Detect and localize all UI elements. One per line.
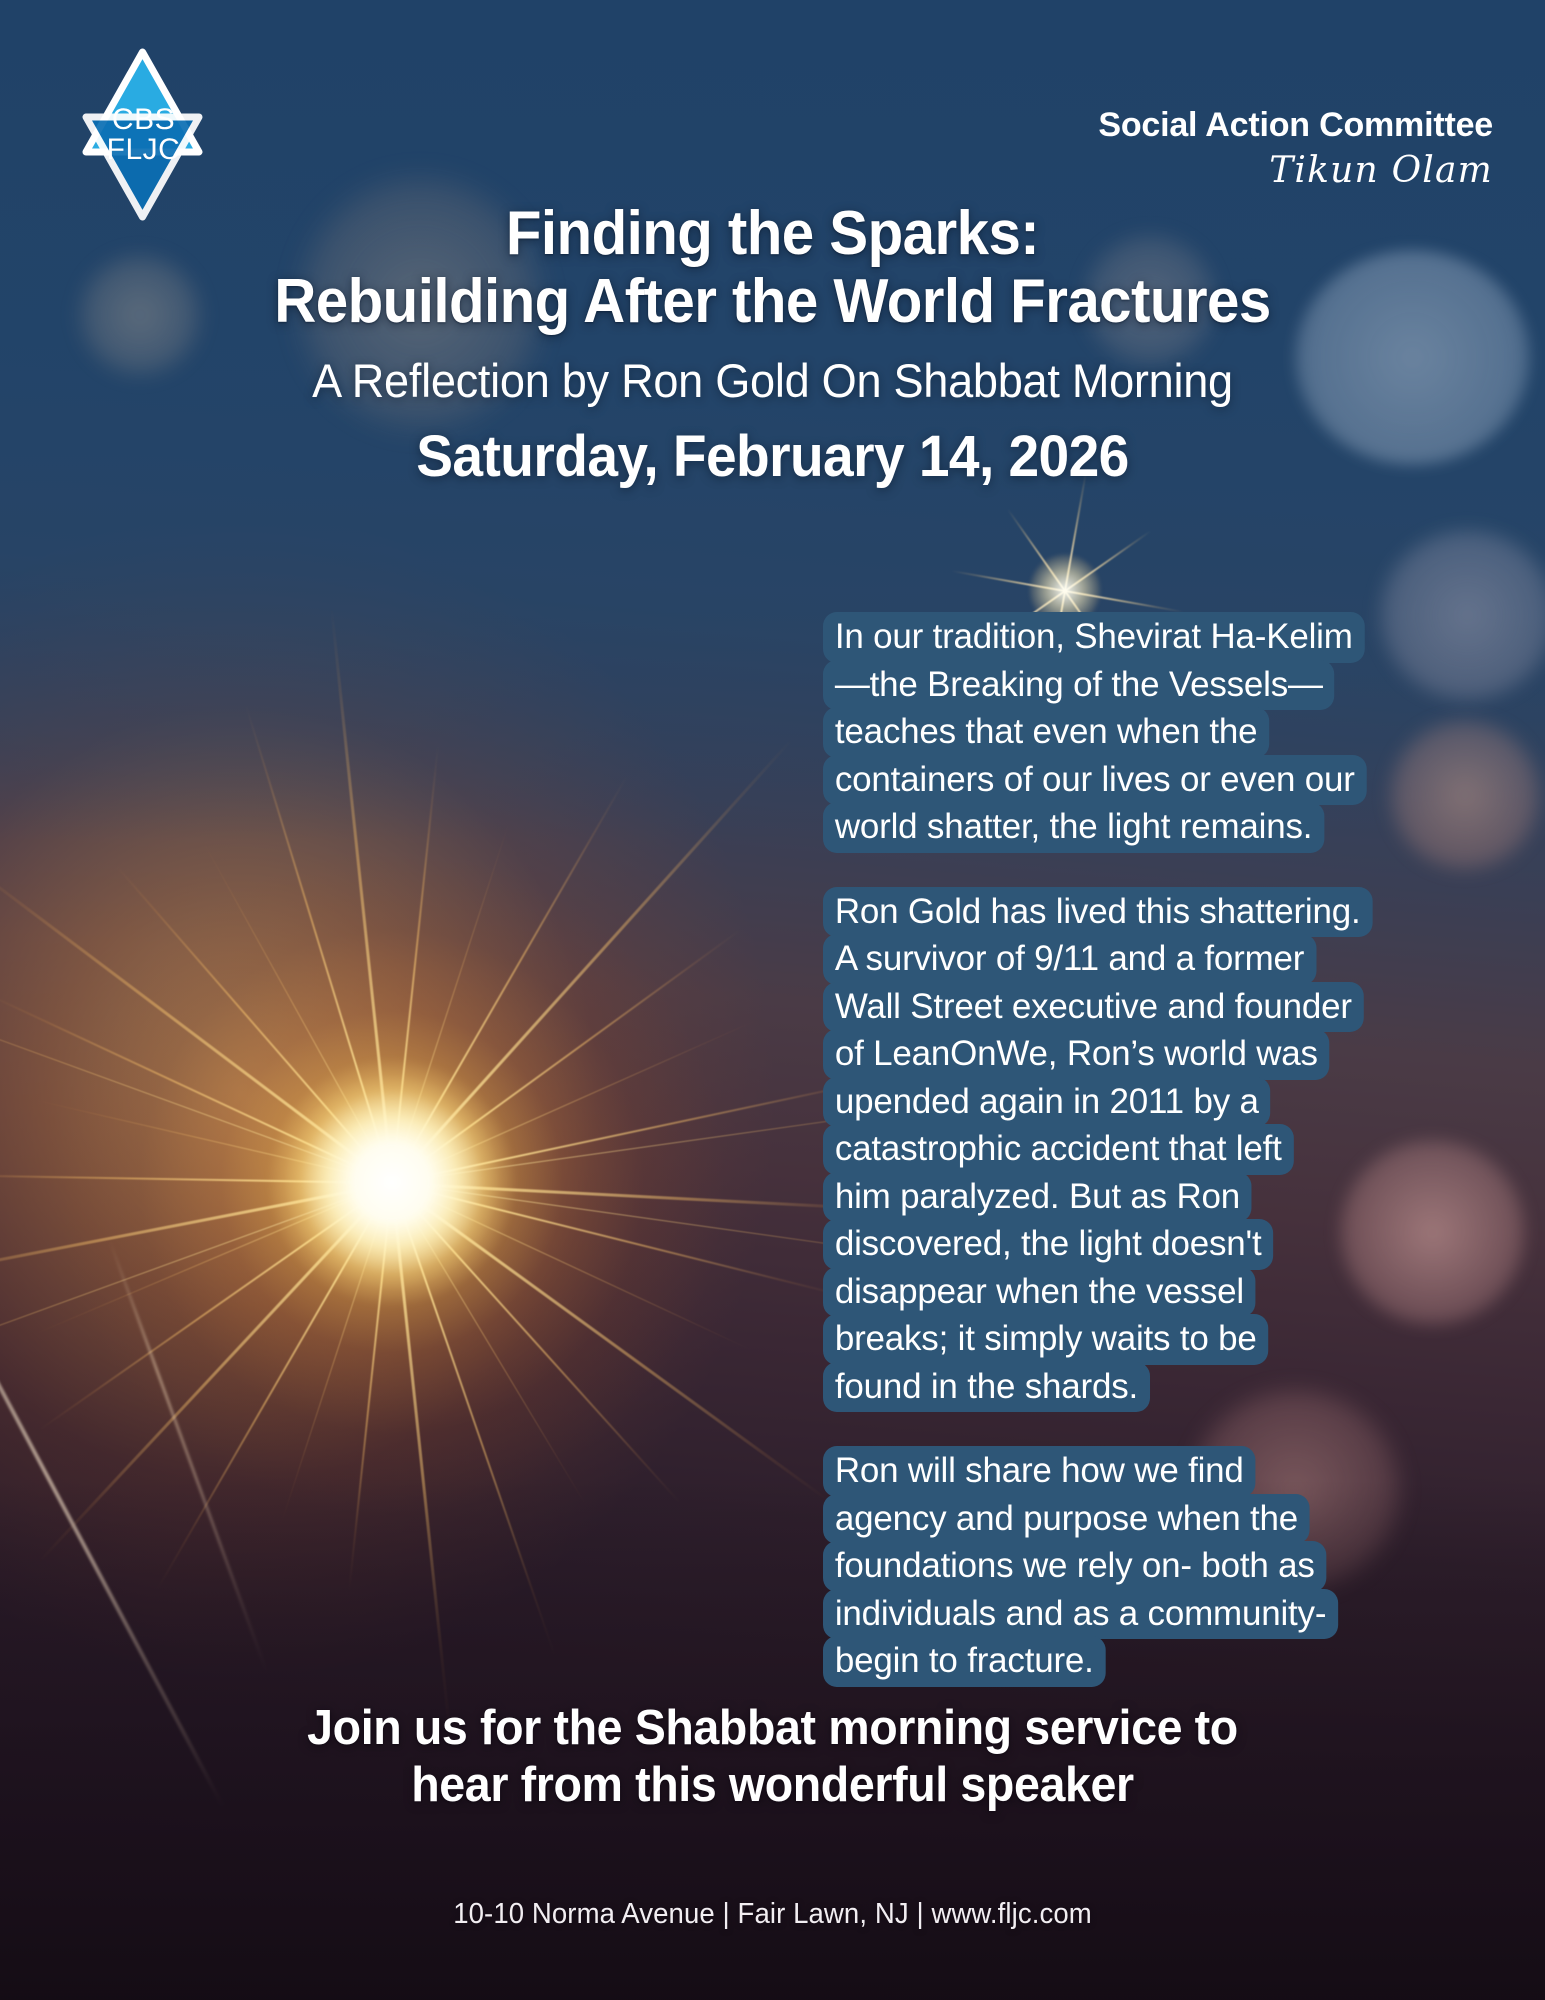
text-line: disappear when the vessel [823, 1267, 1256, 1318]
text-line: upended again in 2011 by a [823, 1077, 1271, 1128]
event-date: Saturday, February 14, 2026 [92, 425, 1453, 490]
text-line: Ron Gold has lived this shattering. [823, 887, 1372, 938]
paragraph: Ron will share how we find agency and pu… [823, 1446, 1483, 1687]
tikun-olam-tagline: Tikun Olam [1098, 148, 1493, 193]
paragraph: Ron Gold has lived this shattering. A su… [823, 887, 1483, 1413]
text-line: A survivor of 9/11 and a former [823, 934, 1316, 985]
text-line: Ron will share how we find [823, 1446, 1256, 1497]
text-line: containers of our lives or even our [823, 755, 1366, 806]
logo-line-2: FLJC [107, 135, 181, 164]
event-flyer: CBS FLJC Social Action Committee Tikun O… [0, 0, 1545, 2000]
text-line: foundations we rely on- both as [823, 1541, 1327, 1592]
text-line: breaks; it simply waits to be [823, 1314, 1268, 1365]
paragraph: In our tradition, Shevirat Ha-Kelim —the… [823, 612, 1483, 853]
event-subtitle: A Reflection by Ron Gold On Shabbat Morn… [85, 353, 1461, 408]
text-line: individuals and as a community- [823, 1589, 1338, 1640]
text-line: him paralyzed. But as Ron [823, 1172, 1252, 1223]
text-line: Wall Street executive and founder [823, 982, 1364, 1033]
title-line-1: Finding the Sparks: [99, 200, 1446, 268]
sparkler-core [267, 1057, 517, 1307]
text-line: of LeanOnWe, Ron’s world was [823, 1029, 1330, 1080]
text-line: catastrophic accident that left [823, 1124, 1293, 1175]
text-line: teaches that even when the [823, 707, 1269, 758]
cta-line-1: Join us for the Shabbat morning service … [105, 1700, 1440, 1757]
call-to-action: Join us for the Shabbat morning service … [39, 1700, 1507, 1814]
text-line: —the Breaking of the Vessels— [823, 660, 1335, 711]
description-panel: In our tradition, Shevirat Ha-Kelim —the… [823, 612, 1483, 1687]
text-line: agency and purpose when the [823, 1494, 1310, 1545]
header-right-block: Social Action Committee Tikun Olam [1098, 108, 1493, 193]
cta-line-2: hear from this wonderful speaker [105, 1757, 1440, 1814]
text-line: begin to fracture. [823, 1636, 1106, 1687]
title-block: Finding the Sparks: Rebuilding After the… [0, 200, 1545, 490]
text-line: found in the shards. [823, 1362, 1150, 1413]
text-line: discovered, the light doesn't [823, 1219, 1273, 1270]
text-line: world shatter, the light remains. [823, 802, 1324, 853]
footer-address: 10-10 Norma Avenue | Fair Lawn, NJ | www… [39, 1898, 1507, 1931]
title-line-2: Rebuilding After the World Fractures [99, 268, 1446, 336]
page-title: Finding the Sparks: Rebuilding After the… [99, 200, 1446, 335]
logo-line-1: CBS [112, 105, 175, 134]
text-line: In our tradition, Shevirat Ha-Kelim [823, 612, 1364, 663]
social-action-committee-title: Social Action Committee [1098, 108, 1493, 144]
